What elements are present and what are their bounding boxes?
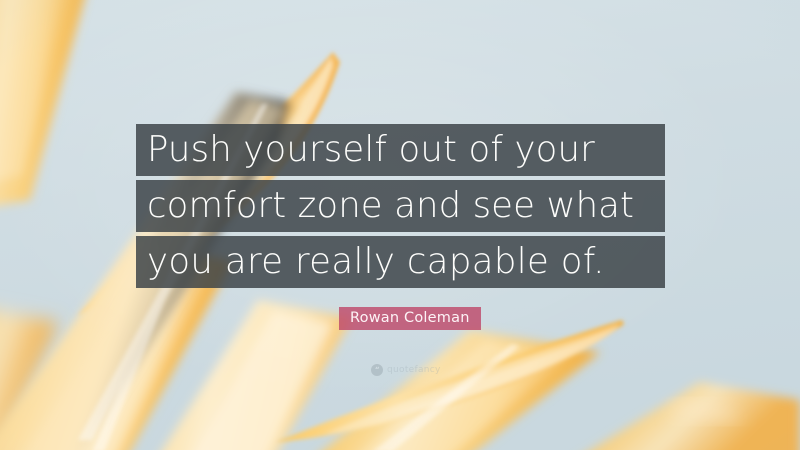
quote-line-2-text: comfort zone and see what [147, 188, 654, 224]
quote-line-3-text: you are really capable of. [147, 244, 654, 280]
quote-text-block: Push yourself out of your comfort zone a… [136, 124, 665, 288]
author-name: Rowan Coleman [350, 311, 470, 326]
quote-line-2: comfort zone and see what [136, 180, 665, 232]
quote-image-canvas: Push yourself out of your comfort zone a… [0, 0, 800, 450]
quote-line-3: you are really capable of. [136, 236, 665, 288]
author-badge[interactable]: Rowan Coleman [339, 307, 481, 330]
quote-line-1-text: Push yourself out of your [147, 132, 654, 168]
quote-line-1: Push yourself out of your [136, 124, 665, 176]
